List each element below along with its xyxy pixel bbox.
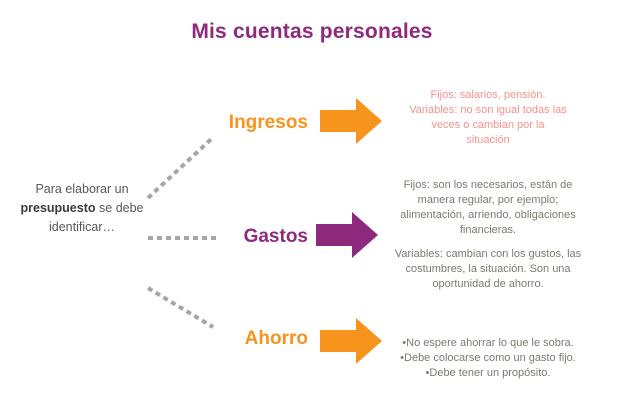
description-gastos-line-7: oportunidad de ahorro. [390, 277, 586, 292]
page-title: Mis cuentas personales [0, 20, 624, 44]
description-gastos-line-6: costumbres, la situación. Son una [390, 262, 586, 277]
description-ingresos: Fijos: salarios, pensión. Variables: no … [392, 88, 584, 148]
description-ingresos-line-3: veces o cambian por la [392, 118, 584, 133]
intro-emphasis-presupuesto: presupuesto [21, 201, 96, 215]
row-label-gastos: Gastos [180, 226, 308, 248]
connector-dotted-line-ingresos [147, 137, 214, 200]
description-gastos-line-2: manera regular, por ejemplo; [390, 193, 586, 208]
intro-text-block: Para elaborar un presupuesto se debe ide… [18, 180, 146, 237]
description-gastos: Fijos: son los necesarios, están de mane… [390, 178, 586, 292]
description-gastos-line-5: Variables: cambian con los gustos, las [390, 247, 586, 262]
row-label-ahorro: Ahorro [180, 328, 308, 350]
description-gastos-line-3: alimentación, arriendo, obligaciones [390, 208, 586, 223]
slide-canvas: Mis cuentas personales Para elaborar un … [0, 0, 624, 418]
row-label-ingresos: Ingresos [180, 112, 308, 134]
right-block-arrow-icon-ingresos [320, 98, 382, 144]
right-block-arrow-icon-gastos [316, 212, 378, 258]
description-ingresos-line-2: Variables: no son igual todas las [392, 103, 584, 118]
description-ahorro-line-3: •Debe tener un propósito. [392, 366, 584, 381]
description-ahorro-line-1: •No espere ahorrar lo que le sobra. [392, 336, 584, 351]
intro-line-1: Para elaborar un [35, 182, 128, 196]
description-gastos-line-4: financieras. [390, 223, 586, 238]
description-ahorro: •No espere ahorrar lo que le sobra. •Deb… [392, 336, 584, 381]
description-ingresos-line-1: Fijos: salarios, pensión. [392, 88, 584, 103]
right-block-arrow-icon-ahorro [320, 318, 382, 364]
description-gastos-line-1: Fijos: son los necesarios, están de [390, 178, 586, 193]
connector-dotted-line-ahorro [147, 286, 214, 329]
description-ahorro-line-2: •Debe colocarse como un gasto fijo. [392, 351, 584, 366]
description-ingresos-line-4: situación [392, 133, 584, 148]
intro-after-emphasis: se [96, 201, 113, 215]
